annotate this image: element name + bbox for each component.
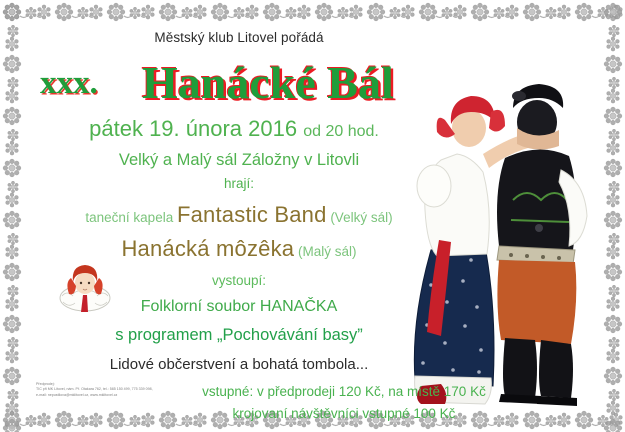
appearance-label: vystoupí: [24,273,454,288]
poster-content: Městský klub Litovel pořádá xxx. Hanácké… [24,24,601,408]
folk-border-left-icon [0,0,24,432]
band-one-name: Fantastic Band [177,202,327,227]
organizer-line: Městský klub Litovel pořádá [24,30,454,45]
band-two-line: Hanácká môzêka (Malý sál) [24,236,454,262]
poster-canvas: Městský klub Litovel pořádá xxx. Hanácké… [0,0,625,432]
refreshment-line: Lidové občerstvení a bohatá tombola... [24,356,454,373]
price-costume-line: krojovaní návštěvníci vstupné 100 Kč [134,406,554,421]
band-one-line: taneční kapela Fantastic Band (Velký sál… [24,202,454,228]
event-date-line: pátek 19. února 2016 od 20 hod. [24,116,444,142]
footer-line-email: e-mail: nepustilova@mklitovel.cz, www.mk… [36,393,206,398]
band-two-hall: (Malý sál) [298,244,357,259]
band-two-name: Hanácká môzêka [121,236,294,261]
footer-contact-info: Předprodej: TIC při MK Litovel, nám. Př.… [36,382,206,398]
folk-border-top-icon [0,0,625,24]
poster-title: xxx. Hanácké Bál [24,56,494,104]
performers-label: hrají: [24,176,454,191]
program-line: s programem „Pochovávání basy” [24,326,454,345]
venue-line: Velký a Malý sál Záložny v Litovli [24,151,454,170]
title-edition-number: xxx. [40,65,98,102]
folk-group-line: Folklorní soubor HANAČKA [24,298,454,316]
event-time: od 20 hod. [303,123,379,140]
folk-border-right-icon [601,0,625,432]
event-date: pátek 19. února 2016 [89,116,297,141]
band-one-hall: (Velký sál) [330,210,392,225]
title-main-text: Hanácké Bál [142,56,394,109]
band-one-prefix: taneční kapela [85,210,173,225]
